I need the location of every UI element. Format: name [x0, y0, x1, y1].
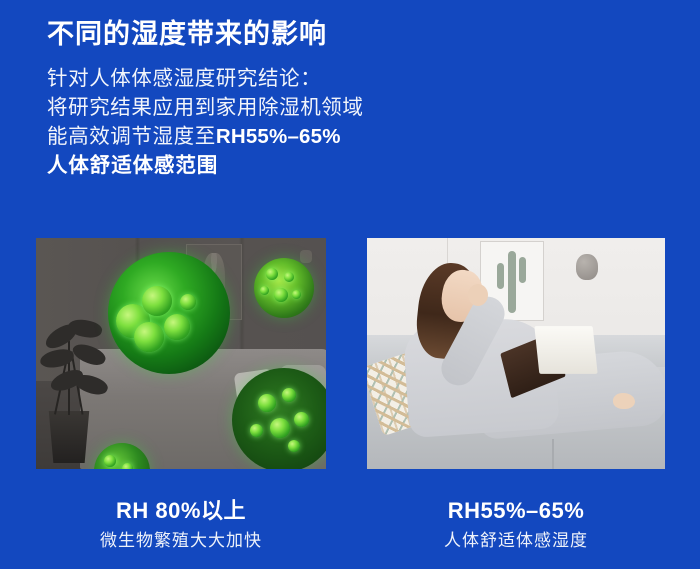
page-title: 不同的湿度带来的影响 — [47, 14, 657, 54]
woman-reading — [367, 238, 665, 469]
intro-line-1: 针对人体体感湿度研究结论： — [47, 64, 657, 93]
microbe-cluster-large-icon — [108, 252, 230, 374]
intro-line-2: 将研究结果应用到家用除湿机领域 — [47, 93, 657, 122]
caption-high-humidity: RH 80%以上 微生物繁殖大大加快 — [36, 497, 326, 554]
wall-speaker-icon — [300, 250, 312, 263]
potted-plant — [38, 313, 116, 463]
intro-line-4: 人体舒适体感范围 — [47, 151, 657, 180]
caption-comfort-humidity: RH55%–65% 人体舒适体感湿度 — [367, 497, 665, 554]
bright-living-room-scene — [367, 238, 665, 469]
dark-living-room-scene — [36, 238, 326, 469]
caption-title-high-humidity: RH 80%以上 — [36, 497, 326, 525]
intro-line-3-prefix: 能高效调节湿度至 — [47, 125, 216, 148]
microbe-cluster-dark-icon — [232, 368, 326, 469]
intro-line-3-emphasis: RH55%–65% — [216, 125, 341, 148]
caption-title-comfort-humidity: RH55%–65% — [367, 497, 665, 525]
photo-comfort-humidity — [367, 238, 665, 469]
text-block: 不同的湿度带来的影响 针对人体体感湿度研究结论： 将研究结果应用到家用除湿机领域… — [47, 14, 657, 180]
plant-leaf — [70, 339, 108, 369]
book-right-page — [534, 326, 597, 374]
photo-high-humidity — [36, 238, 326, 469]
intro-line-3: 能高效调节湿度至RH55%–65% — [47, 122, 657, 151]
plant-pot — [46, 411, 92, 463]
person-foot — [613, 393, 635, 409]
poster-root: 不同的湿度带来的影响 针对人体体感湿度研究结论： 将研究结果应用到家用除湿机领域… — [0, 0, 700, 569]
intro-paragraph: 针对人体体感湿度研究结论： 将研究结果应用到家用除湿机领域 能高效调节湿度至RH… — [47, 64, 657, 180]
caption-subtitle-high-humidity: 微生物繁殖大大加快 — [36, 528, 326, 554]
caption-subtitle-comfort-humidity: 人体舒适体感湿度 — [367, 528, 665, 554]
microbe-cluster-small-icon — [254, 258, 314, 318]
